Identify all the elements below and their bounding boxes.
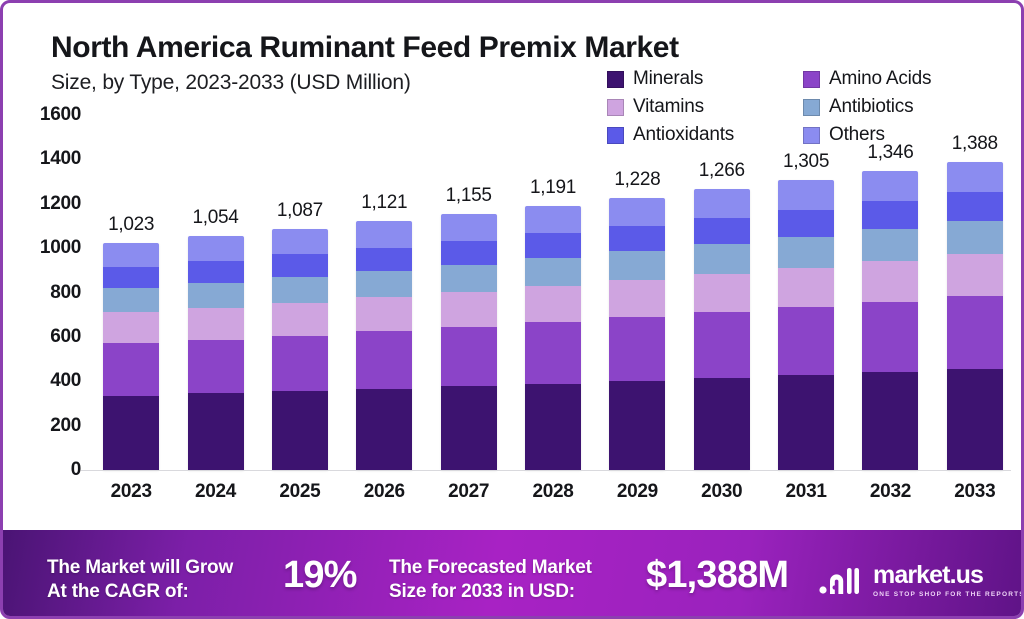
bar-stack-2023[interactable] xyxy=(103,243,159,470)
bar-stack-2031[interactable] xyxy=(778,180,834,470)
bar-segment-vitamins[interactable] xyxy=(694,274,750,312)
x-axis-tick-label: 2023 xyxy=(86,481,176,503)
bar-segment-others[interactable] xyxy=(356,221,412,247)
bar-segment-vitamins[interactable] xyxy=(947,254,1003,296)
legend-item-label: Minerals xyxy=(633,68,703,90)
bar-segment-minerals[interactable] xyxy=(272,391,328,470)
legend-item-label: Amino Acids xyxy=(829,68,931,90)
logo-name: market.us xyxy=(873,563,1024,588)
market-us-logomark-icon xyxy=(818,564,864,598)
bar-stack-2032[interactable] xyxy=(862,171,918,470)
bar-segment-amino-acids[interactable] xyxy=(525,322,581,383)
x-axis-tick-label: 2032 xyxy=(845,481,935,503)
bar-segment-amino-acids[interactable] xyxy=(947,296,1003,369)
cagr-label-line2: At the CAGR of: xyxy=(47,580,233,604)
bar-stack-2024[interactable] xyxy=(188,236,244,470)
bar-stack-2028[interactable] xyxy=(525,206,581,470)
bar-segment-antibiotics[interactable] xyxy=(188,283,244,308)
x-axis-baseline xyxy=(81,470,1011,471)
bar-segment-others[interactable] xyxy=(694,189,750,218)
page-title: North America Ruminant Feed Premix Marke… xyxy=(51,31,679,65)
bar-value-label: 1,023 xyxy=(86,214,176,236)
bar-segment-amino-acids[interactable] xyxy=(778,307,834,375)
bar-value-label: 1,388 xyxy=(930,133,1020,155)
bar-value-label: 1,087 xyxy=(255,200,345,222)
bar-segment-vitamins[interactable] xyxy=(778,268,834,307)
bar-segment-antibiotics[interactable] xyxy=(862,229,918,261)
x-axis-tick-label: 2027 xyxy=(424,481,514,503)
bar-segment-vitamins[interactable] xyxy=(103,312,159,343)
bar-segment-antibiotics[interactable] xyxy=(103,288,159,312)
bar-segment-antioxidants[interactable] xyxy=(947,192,1003,221)
y-axis: 02004006008001000120014001600 xyxy=(3,115,81,475)
bar-segment-others[interactable] xyxy=(525,206,581,234)
bar-segment-amino-acids[interactable] xyxy=(441,327,497,386)
bar-segment-vitamins[interactable] xyxy=(356,297,412,331)
bar-segment-others[interactable] xyxy=(272,229,328,255)
bar-segment-antibiotics[interactable] xyxy=(947,221,1003,254)
bar-segment-amino-acids[interactable] xyxy=(694,312,750,378)
page-subtitle: Size, by Type, 2023-2033 (USD Million) xyxy=(51,71,411,95)
bar-segment-antibiotics[interactable] xyxy=(272,277,328,303)
x-axis-tick-label: 2030 xyxy=(677,481,767,503)
bar-value-label: 1,191 xyxy=(508,177,598,199)
bar-segment-others[interactable] xyxy=(778,180,834,209)
bar-segment-antioxidants[interactable] xyxy=(103,267,159,288)
cagr-value: 19% xyxy=(283,554,357,597)
bar-value-label: 1,228 xyxy=(592,169,682,191)
forecast-value: $1,388M xyxy=(646,554,788,597)
bar-segment-amino-acids[interactable] xyxy=(609,317,665,381)
bar-segment-antibiotics[interactable] xyxy=(778,237,834,268)
bar-segment-amino-acids[interactable] xyxy=(862,302,918,373)
bar-segment-minerals[interactable] xyxy=(525,384,581,470)
bar-segment-minerals[interactable] xyxy=(188,393,244,470)
bar-segment-antibiotics[interactable] xyxy=(356,271,412,298)
bar-segment-antibiotics[interactable] xyxy=(609,251,665,280)
bar-segment-minerals[interactable] xyxy=(356,389,412,470)
x-axis-tick-label: 2033 xyxy=(930,481,1020,503)
legend-swatch-icon xyxy=(803,71,820,88)
bar-stack-2030[interactable] xyxy=(694,189,750,470)
y-axis-tick-label: 1600 xyxy=(3,104,81,126)
bar-segment-minerals[interactable] xyxy=(103,396,159,470)
bar-segment-vitamins[interactable] xyxy=(188,308,244,340)
x-axis: 2023202420252026202720282029203020312032… xyxy=(89,481,1017,517)
bar-segment-others[interactable] xyxy=(441,214,497,241)
bar-segment-vitamins[interactable] xyxy=(862,261,918,302)
infographic-card: North America Ruminant Feed Premix Marke… xyxy=(0,0,1024,619)
bar-segment-others[interactable] xyxy=(947,162,1003,192)
bar-value-label: 1,305 xyxy=(761,151,851,173)
y-axis-tick-label: 400 xyxy=(3,370,81,392)
bar-segment-minerals[interactable] xyxy=(862,372,918,470)
bar-segment-amino-acids[interactable] xyxy=(103,343,159,395)
legend-swatch-icon xyxy=(607,99,624,116)
bar-stack-2027[interactable] xyxy=(441,214,497,470)
bar-segment-antioxidants[interactable] xyxy=(609,226,665,251)
bar-stack-2026[interactable] xyxy=(356,221,412,470)
bar-segment-vitamins[interactable] xyxy=(609,280,665,317)
bar-segment-minerals[interactable] xyxy=(778,375,834,470)
y-axis-tick-label: 1000 xyxy=(3,237,81,259)
x-axis-tick-label: 2028 xyxy=(508,481,598,503)
bar-value-label: 1,121 xyxy=(339,192,429,214)
bar-stack-2025[interactable] xyxy=(272,229,328,470)
bar-value-label: 1,054 xyxy=(171,207,261,229)
bar-segment-antioxidants[interactable] xyxy=(441,241,497,265)
bar-segment-minerals[interactable] xyxy=(694,378,750,470)
logo-tagline: ONE STOP SHOP FOR THE REPORTS xyxy=(873,592,1024,599)
bar-segment-vitamins[interactable] xyxy=(441,292,497,327)
bar-segment-antioxidants[interactable] xyxy=(188,261,244,283)
x-axis-tick-label: 2026 xyxy=(339,481,429,503)
bar-segment-antioxidants[interactable] xyxy=(525,233,581,258)
bar-segment-others[interactable] xyxy=(609,198,665,226)
market-us-logo[interactable]: market.us ONE STOP SHOP FOR THE REPORTS xyxy=(818,563,1024,599)
bar-segment-others[interactable] xyxy=(862,171,918,200)
bar-segment-antioxidants[interactable] xyxy=(778,210,834,237)
bar-stack-2029[interactable] xyxy=(609,198,665,470)
x-axis-tick-label: 2025 xyxy=(255,481,345,503)
y-axis-tick-label: 1400 xyxy=(3,148,81,170)
legend-swatch-icon xyxy=(607,71,624,88)
y-axis-tick-label: 200 xyxy=(3,415,81,437)
x-axis-tick-label: 2024 xyxy=(171,481,261,503)
bar-segment-antibiotics[interactable] xyxy=(441,265,497,293)
y-axis-tick-label: 800 xyxy=(3,282,81,304)
x-axis-tick-label: 2031 xyxy=(761,481,851,503)
y-axis-tick-label: 1200 xyxy=(3,193,81,215)
bar-segment-antibiotics[interactable] xyxy=(694,244,750,274)
forecast-label-line1: The Forecasted Market xyxy=(389,556,592,580)
bar-segment-minerals[interactable] xyxy=(441,386,497,470)
cagr-label: The Market will Grow At the CAGR of: xyxy=(47,556,233,605)
x-axis-tick-label: 2029 xyxy=(592,481,682,503)
bar-value-label: 1,155 xyxy=(424,185,514,207)
bar-segment-vitamins[interactable] xyxy=(525,286,581,322)
y-axis-tick-label: 0 xyxy=(3,459,81,481)
legend-item-amino-acids[interactable]: Amino Acids xyxy=(803,65,993,93)
bar-stack-2033[interactable] xyxy=(947,162,1003,470)
bar-segment-antibiotics[interactable] xyxy=(525,258,581,286)
forecast-label: The Forecasted Market Size for 2033 in U… xyxy=(389,556,592,605)
legend-swatch-icon xyxy=(803,99,820,116)
bar-segment-amino-acids[interactable] xyxy=(188,340,244,394)
chart-header: North America Ruminant Feed Premix Marke… xyxy=(3,3,1024,123)
bar-segment-amino-acids[interactable] xyxy=(272,336,328,392)
cagr-label-line1: The Market will Grow xyxy=(47,556,233,580)
bars-container: 1,0231,0541,0871,1211,1551,1911,2281,266… xyxy=(89,115,1017,470)
bar-segment-minerals[interactable] xyxy=(947,369,1003,470)
bar-value-label: 1,346 xyxy=(845,142,935,164)
bar-segment-antioxidants[interactable] xyxy=(694,218,750,244)
bar-segment-others[interactable] xyxy=(188,236,244,261)
legend-item-minerals[interactable]: Minerals xyxy=(607,65,797,93)
bar-segment-vitamins[interactable] xyxy=(272,303,328,336)
bar-segment-minerals[interactable] xyxy=(609,381,665,470)
y-axis-tick-label: 600 xyxy=(3,326,81,348)
forecast-label-line2: Size for 2033 in USD: xyxy=(389,580,592,604)
chart-plot-area: 02004006008001000120014001600 1,0231,054… xyxy=(3,115,1024,530)
footer-banner: The Market will Grow At the CAGR of: 19%… xyxy=(3,530,1024,619)
bar-segment-antioxidants[interactable] xyxy=(356,248,412,271)
logo-text-block: market.us ONE STOP SHOP FOR THE REPORTS xyxy=(873,563,1024,599)
bar-value-label: 1,266 xyxy=(677,160,767,182)
bar-segment-antioxidants[interactable] xyxy=(862,201,918,229)
bar-segment-amino-acids[interactable] xyxy=(356,331,412,388)
bar-segment-antioxidants[interactable] xyxy=(272,254,328,276)
bar-segment-others[interactable] xyxy=(103,243,159,267)
